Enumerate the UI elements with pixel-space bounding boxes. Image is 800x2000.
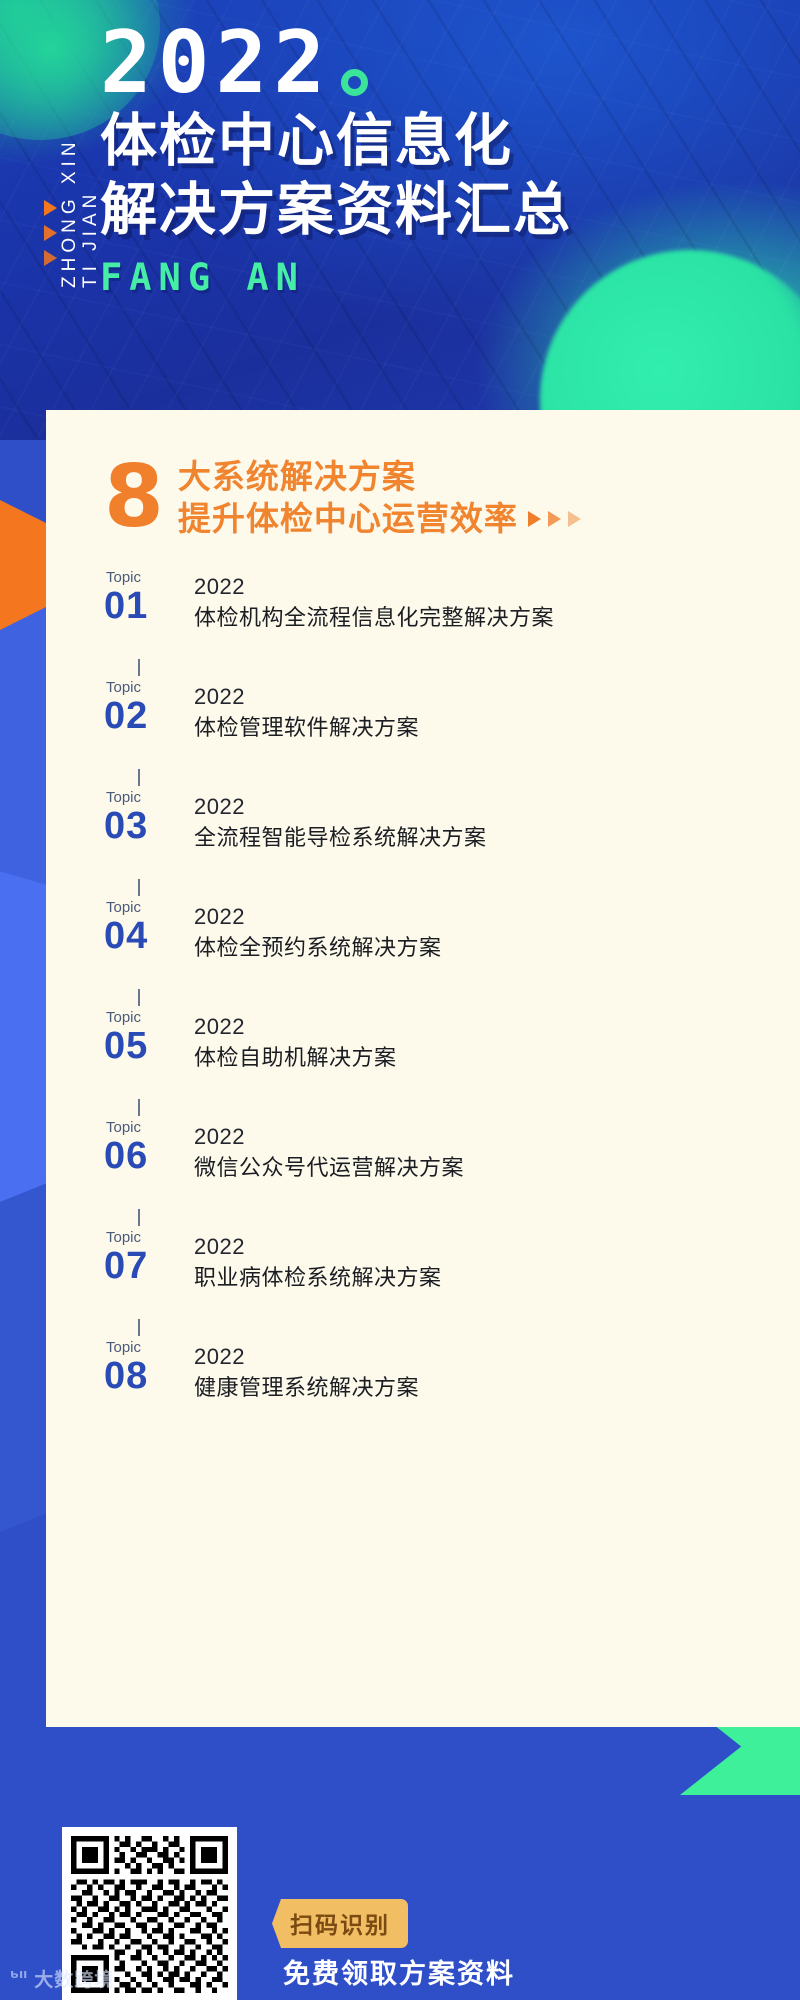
hero-title-line-1: 体检中心信息化: [100, 108, 572, 175]
free-download-text: 免费领取方案资料: [283, 1952, 515, 1991]
vertical-pinyin-line-1: TI JIAN: [81, 38, 100, 288]
separator-tick: [138, 879, 140, 896]
content-card: 8 大系统解决方案 提升体检中心运营效率 Topic 01: [46, 410, 800, 1727]
topic-content-block: 2022 健康管理系统解决方案: [194, 1340, 419, 1404]
separator-tick: [138, 989, 140, 1006]
topic-title: 职业病体检系统解决方案: [194, 1261, 442, 1294]
topic-title: 健康管理系统解决方案: [194, 1371, 419, 1404]
topic-index-block: Topic 07: [104, 1230, 194, 1286]
hero-year-row: 2022: [100, 20, 572, 108]
topic-number: 03: [104, 807, 148, 847]
topic-list-item[interactable]: Topic 07 2022 职业病体检系统解决方案: [104, 1230, 800, 1319]
topic-separator: [104, 1319, 800, 1340]
topic-number: 01: [104, 587, 148, 627]
hero-year: 2022: [100, 20, 331, 108]
heading-arrows-icon-group: [528, 511, 581, 527]
hero-title-line-2: 解决方案资料汇总: [100, 177, 572, 244]
topic-list-item[interactable]: Topic 08 2022 健康管理系统解决方案: [104, 1340, 800, 1429]
topic-title: 微信公众号代运营解决方案: [194, 1151, 464, 1184]
topic-number: 06: [104, 1137, 148, 1177]
big-number-eight: 8: [104, 458, 164, 537]
topic-index-block: Topic 02: [104, 680, 194, 736]
card-heading-lines: 大系统解决方案 提升体检中心运营效率: [178, 454, 581, 540]
topic-index-block: Topic 05: [104, 1010, 194, 1066]
arrow-right-icon-1: [528, 511, 541, 527]
topic-year: 2022: [194, 1343, 419, 1371]
topic-separator: [104, 1099, 800, 1120]
topic-number: 07: [104, 1247, 148, 1287]
topic-number: 02: [104, 697, 148, 737]
topic-number: 08: [104, 1357, 148, 1397]
topic-number: 05: [104, 1027, 148, 1067]
topic-index-block: Topic 08: [104, 1340, 194, 1396]
topic-content-block: 2022 全流程智能导检系统解决方案: [194, 790, 487, 854]
topic-list-item[interactable]: Topic 02 2022 体检管理软件解决方案: [104, 680, 800, 769]
hero-banner: TI JIAN ZHONG XIN 2022 体检中心信息化 解决方案资料汇总 …: [0, 0, 800, 470]
topic-index-block: Topic 01: [104, 570, 194, 626]
topic-list-item[interactable]: Topic 03 2022 全流程智能导检系统解决方案: [104, 790, 800, 879]
separator-tick: [138, 1209, 140, 1226]
separator-tick: [138, 1099, 140, 1116]
arrow-right-icon-3: [568, 511, 581, 527]
topic-year: 2022: [194, 683, 419, 711]
topic-year: 2022: [194, 903, 442, 931]
topic-separator: [104, 1209, 800, 1230]
topic-separator: [104, 989, 800, 1010]
card-heading-line-2-wrap: 提升体检中心运营效率: [178, 498, 581, 540]
topic-year: 2022: [194, 1233, 442, 1261]
topic-separator: [104, 879, 800, 900]
topic-content-block: 2022 微信公众号代运营解决方案: [194, 1120, 464, 1184]
watermark: ᒃᑊᑊ 大数跨境: [10, 1965, 114, 1992]
topic-content-block: 2022 职业病体检系统解决方案: [194, 1230, 442, 1294]
topic-separator: [104, 769, 800, 790]
brand-logo-icon: ᒃᑊᑊ: [10, 1968, 27, 1989]
topic-year: 2022: [194, 1123, 464, 1151]
card-heading-line-1: 大系统解决方案: [178, 456, 581, 498]
card-heading-line-2: 提升体检中心运营效率: [178, 498, 518, 540]
separator-tick: [138, 659, 140, 676]
topic-year: 2022: [194, 573, 554, 601]
topic-title: 全流程智能导检系统解决方案: [194, 821, 487, 854]
topic-number: 04: [104, 917, 148, 957]
topic-content-block: 2022 体检全预约系统解决方案: [194, 900, 442, 964]
topic-index-block: Topic 03: [104, 790, 194, 846]
topic-list-item[interactable]: Topic 06 2022 微信公众号代运营解决方案: [104, 1120, 800, 1209]
topic-index-block: Topic 06: [104, 1120, 194, 1176]
topic-title: 体检自助机解决方案: [194, 1041, 397, 1074]
green-ring-icon: [341, 69, 368, 96]
watermark-text: 大数跨境: [34, 1965, 114, 1992]
poster-root: TI JIAN ZHONG XIN 2022 体检中心信息化 解决方案资料汇总 …: [0, 0, 800, 2000]
separator-tick: [138, 1319, 140, 1336]
topic-separator: [104, 659, 800, 680]
hero-pinyin-subtitle: FANG AN: [100, 256, 572, 299]
footer-cta: 扫码识别 免费领取方案资料 ᒃᑊᑊ 大数跨境: [0, 1727, 800, 2000]
orange-triangle-stack: [44, 200, 57, 275]
topic-content-block: 2022 体检管理软件解决方案: [194, 680, 419, 744]
card-heading: 8 大系统解决方案 提升体检中心运营效率: [46, 410, 800, 540]
topic-list-item[interactable]: Topic 01 2022 体检机构全流程信息化完整解决方案: [104, 570, 800, 659]
topic-list-item[interactable]: Topic 04 2022 体检全预约系统解决方案: [104, 900, 800, 989]
topic-list: Topic 01 2022 体检机构全流程信息化完整解决方案 Topic 02 …: [46, 570, 800, 1429]
topic-title: 体检机构全流程信息化完整解决方案: [194, 601, 554, 634]
triangle-icon-2: [44, 225, 57, 241]
topic-list-item[interactable]: Topic 05 2022 体检自助机解决方案: [104, 1010, 800, 1099]
topic-index-block: Topic 04: [104, 900, 194, 956]
separator-tick: [138, 769, 140, 786]
topic-content-block: 2022 体检机构全流程信息化完整解决方案: [194, 570, 554, 634]
topic-title: 体检全预约系统解决方案: [194, 931, 442, 964]
scan-badge[interactable]: 扫码识别: [272, 1899, 408, 1948]
triangle-icon-3: [44, 250, 57, 266]
topic-year: 2022: [194, 793, 487, 821]
topic-content-block: 2022 体检自助机解决方案: [194, 1010, 397, 1074]
topic-title: 体检管理软件解决方案: [194, 711, 419, 744]
hero-text-block: 2022 体检中心信息化 解决方案资料汇总 FANG AN: [100, 20, 572, 299]
topic-year: 2022: [194, 1013, 397, 1041]
vertical-pinyin-line-2: ZHONG XIN: [60, 38, 79, 288]
arrow-right-icon-2: [548, 511, 561, 527]
triangle-icon-1: [44, 200, 57, 216]
